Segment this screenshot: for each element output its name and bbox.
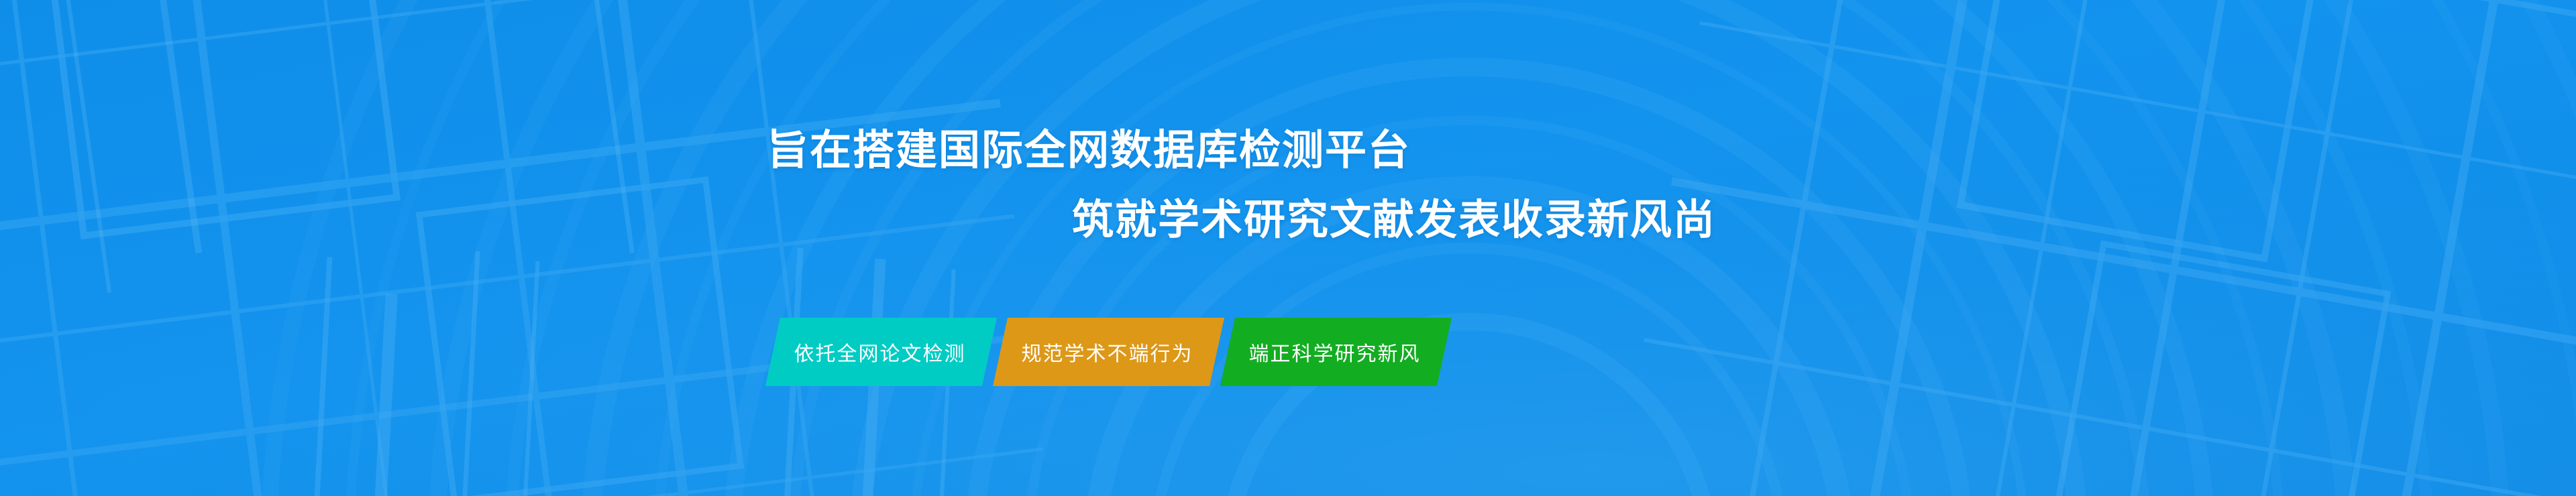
feature-tab-research-integrity[interactable]: 端正科学研究新风 [1220,318,1452,386]
feature-tab-group: 依托全网论文检测 规范学术不端行为 端正科学研究新风 [758,318,1818,390]
headline-line-2: 筑就学术研究文献发表收录新风尚 [1072,196,1716,245]
feature-tab-plagiarism-detection[interactable]: 依托全网论文检测 [765,318,997,386]
feature-tab-label: 规范学术不端行为 [1022,337,1193,367]
headline-line-1: 旨在搭建国际全网数据库检测平台 [767,126,1411,176]
promotional-banner: 旨在搭建国际全网数据库检测平台 筑就学术研究文献发表收录新风尚 依托全网论文检测… [0,0,2576,496]
headline-group: 旨在搭建国际全网数据库检测平台 筑就学术研究文献发表收录新风尚 [0,0,2576,496]
feature-tab-label: 依托全网论文检测 [794,337,966,367]
feature-tab-label: 端正科学研究新风 [1249,337,1421,367]
feature-tab-academic-misconduct[interactable]: 规范学术不端行为 [993,318,1224,386]
